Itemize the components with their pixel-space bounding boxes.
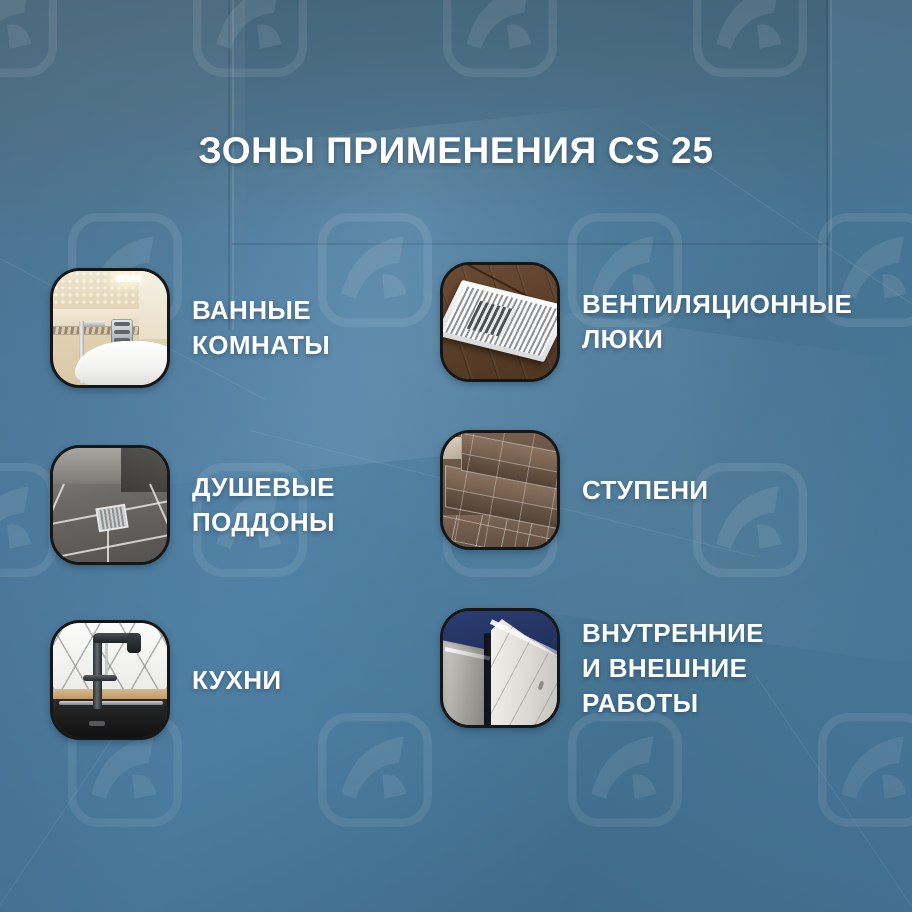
zone-item-interior-exterior-works[interactable]: ВНУТРЕННИЕ И ВНЕШНИЕ РАБОТЫ	[440, 608, 764, 728]
zone-label-bathrooms: ВАННЫЕ КОМНАТЫ	[192, 293, 330, 363]
zone-label-kitchens: КУХНИ	[192, 663, 282, 698]
zone-label-ventilation-hatches: ВЕНТИЛЯЦИОННЫЕ ЛЮКИ	[582, 287, 852, 357]
zone-label-interior-exterior-works: ВНУТРЕННИЕ И ВНЕШНИЕ РАБОТЫ	[582, 616, 764, 721]
kitchen-photo	[50, 620, 170, 740]
zone-label-steps: СТУПЕНИ	[582, 473, 708, 508]
application-zones-grid: ВАННЫЕ КОМНАТЫ ВЕНТИЛЯЦИОННЫЕ ЛЮКИ Д	[0, 0, 912, 912]
tiled-steps-photo	[440, 430, 560, 550]
zone-item-ventilation-hatches[interactable]: ВЕНТИЛЯЦИОННЫЕ ЛЮКИ	[440, 262, 852, 382]
zone-item-kitchens[interactable]: КУХНИ	[50, 620, 282, 740]
shower-tray-photo	[50, 445, 170, 565]
zone-item-bathrooms[interactable]: ВАННЫЕ КОМНАТЫ	[50, 268, 330, 388]
zone-label-shower-trays: ДУШЕВЫЕ ПОДДОНЫ	[192, 470, 335, 540]
poster-canvas: ЗОНЫ ПРИМЕНЕНИЯ CS 25 ВАННЫЕ КОМНАТЫ	[0, 0, 912, 912]
ventilation-grille-photo	[440, 262, 560, 382]
bathroom-photo	[50, 268, 170, 388]
zone-item-shower-trays[interactable]: ДУШЕВЫЕ ПОДДОНЫ	[50, 445, 335, 565]
zone-item-steps[interactable]: СТУПЕНИ	[440, 430, 708, 550]
facade-photo	[440, 608, 560, 728]
